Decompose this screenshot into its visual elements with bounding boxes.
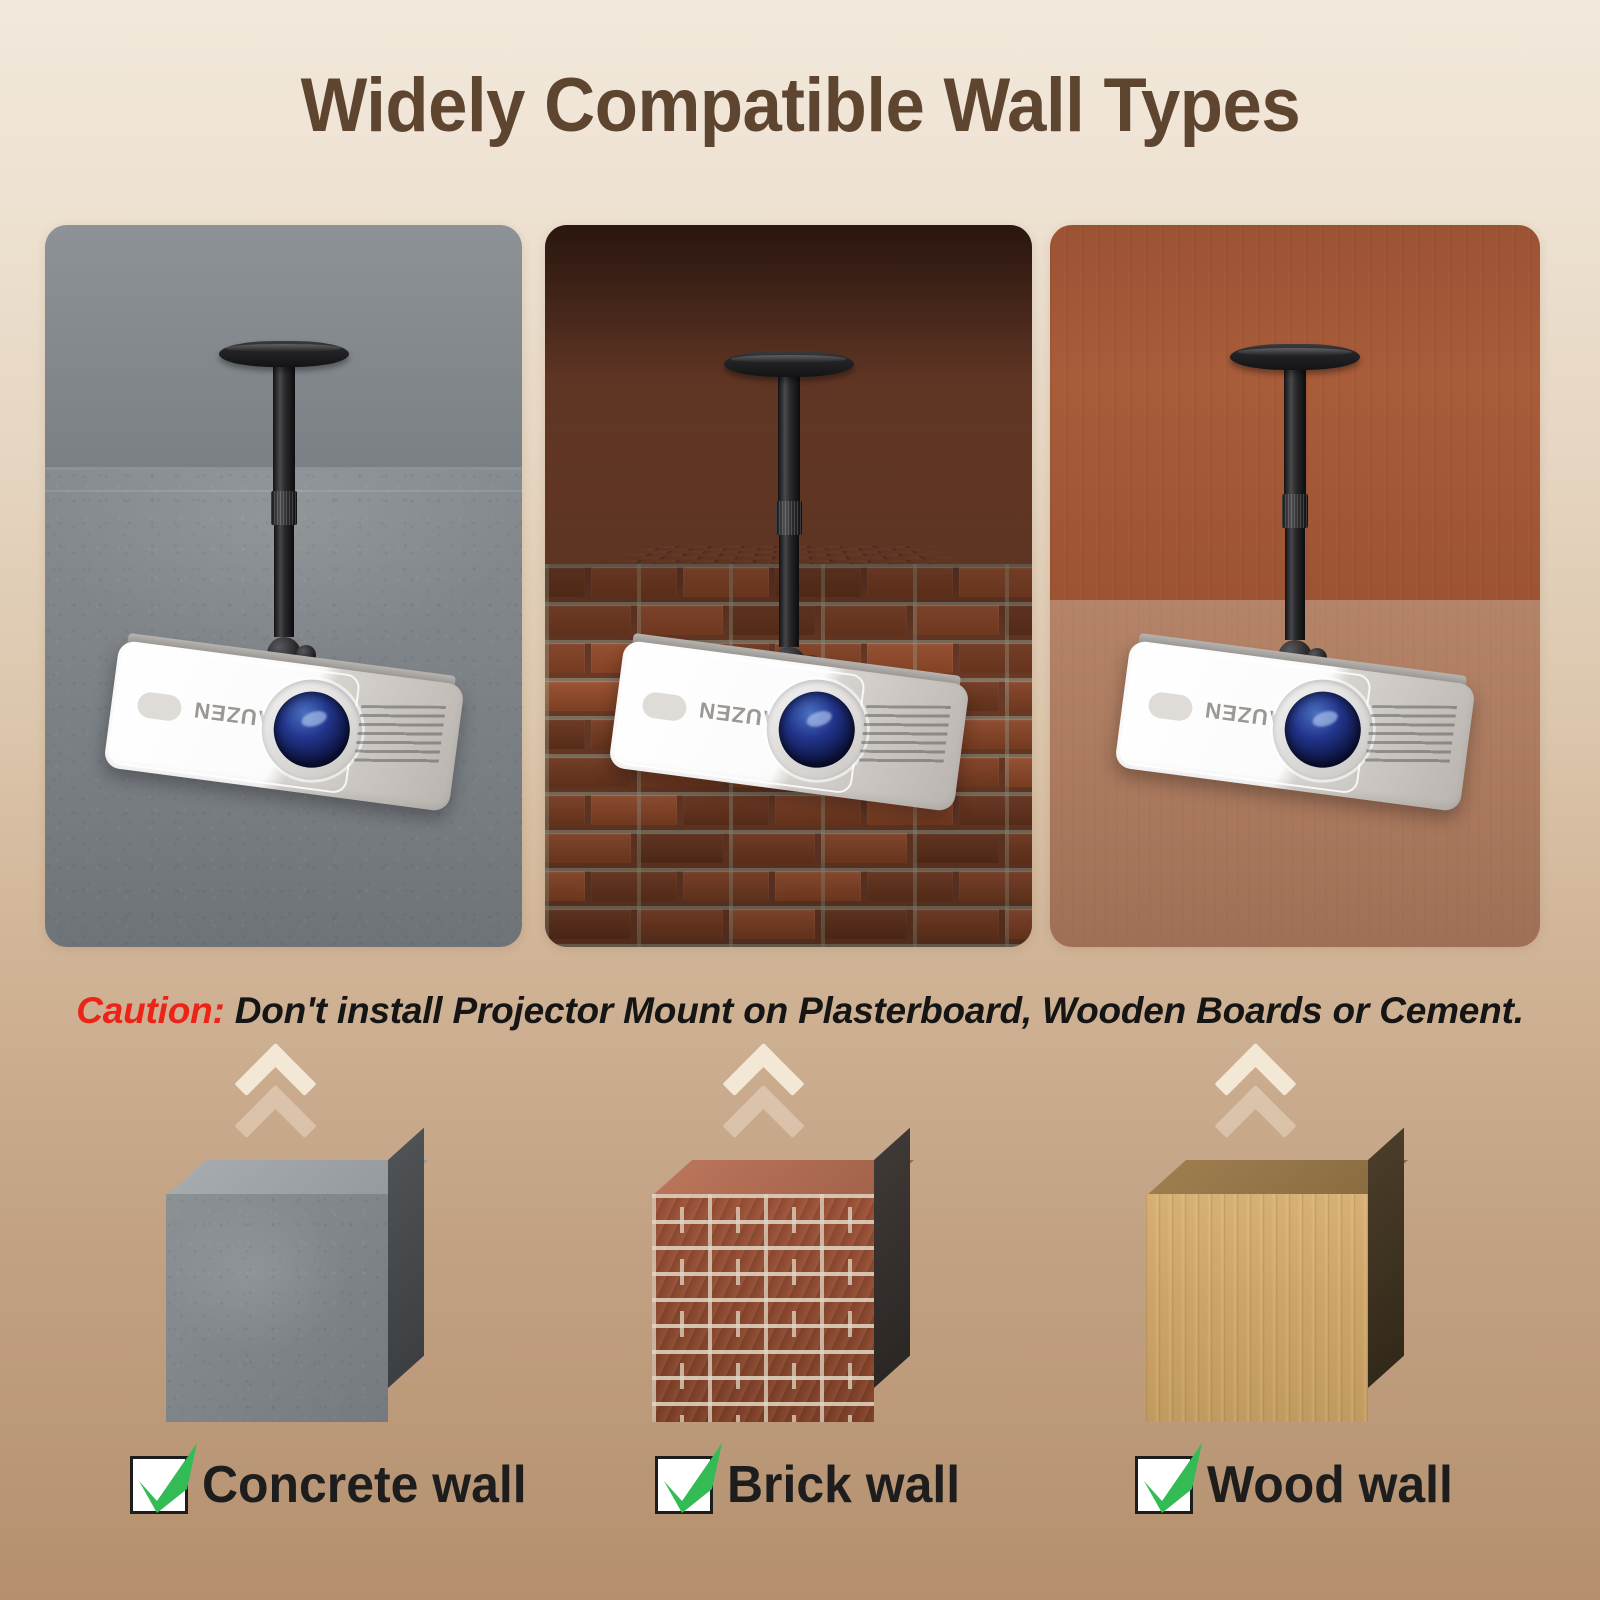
- wood-cube[interactable]: [1146, 1160, 1406, 1422]
- lens-glint: [299, 708, 328, 729]
- checkbox-concrete[interactable]: [130, 1456, 188, 1514]
- projector-lens-glass: [1280, 687, 1365, 772]
- concrete-grain-texture: [166, 1194, 388, 1422]
- cube-side-face: [1368, 1128, 1404, 1388]
- concrete-scene: AUZEN: [45, 225, 522, 947]
- cube-side-face: [874, 1128, 910, 1388]
- mount-knurled-collar: [776, 501, 802, 535]
- mount-pole-upper: [778, 373, 800, 501]
- projector-lens-glass: [269, 687, 354, 772]
- brick-scene: AUZEN: [545, 225, 1032, 947]
- cube-front-face: [652, 1194, 874, 1422]
- mount-pole-upper: [273, 363, 295, 491]
- arrow-column-wood: [1210, 1055, 1330, 1165]
- projector-vent-grille: [1364, 705, 1457, 767]
- caution-text: Don't install Projector Mount on Plaster…: [235, 990, 1524, 1031]
- mount-pole-lower: [779, 535, 799, 647]
- arrow-column-brick: [718, 1055, 838, 1165]
- checkbox-wood[interactable]: [1135, 1456, 1193, 1514]
- wood-panel[interactable]: AUZEN: [1050, 225, 1540, 947]
- brick-panel[interactable]: AUZEN: [545, 225, 1032, 947]
- material-label-wood: Wood wall: [1207, 1455, 1453, 1515]
- brick-texture-offset-rows: [680, 1207, 874, 1422]
- mount-knurled-collar: [271, 491, 297, 525]
- material-option-concrete[interactable]: Concrete wall: [130, 1455, 540, 1515]
- chevron-down-icon: [263, 1085, 316, 1138]
- material-option-wood[interactable]: Wood wall: [1135, 1455, 1463, 1515]
- page-title-wrap: Widely Compatible Wall Types: [0, 0, 1600, 149]
- material-label-brick: Brick wall: [727, 1455, 960, 1515]
- mount-knurled-collar: [1282, 494, 1308, 528]
- arrow-column-concrete: [230, 1055, 350, 1165]
- caution-note: Caution: Don't install Projector Mount o…: [0, 990, 1600, 1032]
- cube-front-face: [1146, 1194, 1368, 1422]
- projector-mount-hardware: [1215, 344, 1375, 696]
- page-title: Widely Compatible Wall Types: [300, 62, 1300, 149]
- projector-mount-hardware: [204, 341, 364, 693]
- projector-lens-glass: [774, 687, 859, 772]
- ceiling-plate: [219, 341, 349, 367]
- chevron-down-icon: [751, 1085, 804, 1138]
- cube-front-face: [166, 1194, 388, 1422]
- material-label-row: Concrete wall Brick wall Wood wall: [0, 1455, 1600, 1540]
- mount-pole-upper: [1284, 366, 1306, 494]
- concrete-cube[interactable]: [166, 1160, 426, 1422]
- chevron-down-icon: [1243, 1085, 1296, 1138]
- ceiling-plate: [724, 351, 854, 377]
- material-label-concrete: Concrete wall: [202, 1455, 527, 1515]
- arrow-row: [0, 1055, 1600, 1165]
- caution-prefix: Caution:: [76, 990, 224, 1031]
- checkbox-brick[interactable]: [655, 1456, 713, 1514]
- material-option-brick[interactable]: Brick wall: [655, 1455, 970, 1515]
- photo-panel-row: AUZEN: [0, 225, 1600, 947]
- mount-pole-lower: [1285, 528, 1305, 640]
- lens-glint: [1311, 708, 1340, 729]
- check-icon: [1136, 1441, 1210, 1517]
- check-icon: [656, 1441, 730, 1517]
- cube-side-face: [388, 1128, 424, 1388]
- check-icon: [131, 1441, 205, 1517]
- projector-vent-grille: [858, 705, 951, 767]
- projector-vent-grille: [353, 705, 446, 767]
- wood-scene: AUZEN: [1050, 225, 1540, 947]
- material-cube-row: [0, 1160, 1600, 1440]
- concrete-panel[interactable]: AUZEN: [45, 225, 522, 947]
- lens-glint: [804, 708, 833, 729]
- brick-cube[interactable]: [652, 1160, 912, 1422]
- ceiling-plate: [1230, 344, 1360, 370]
- mount-pole-lower: [274, 525, 294, 637]
